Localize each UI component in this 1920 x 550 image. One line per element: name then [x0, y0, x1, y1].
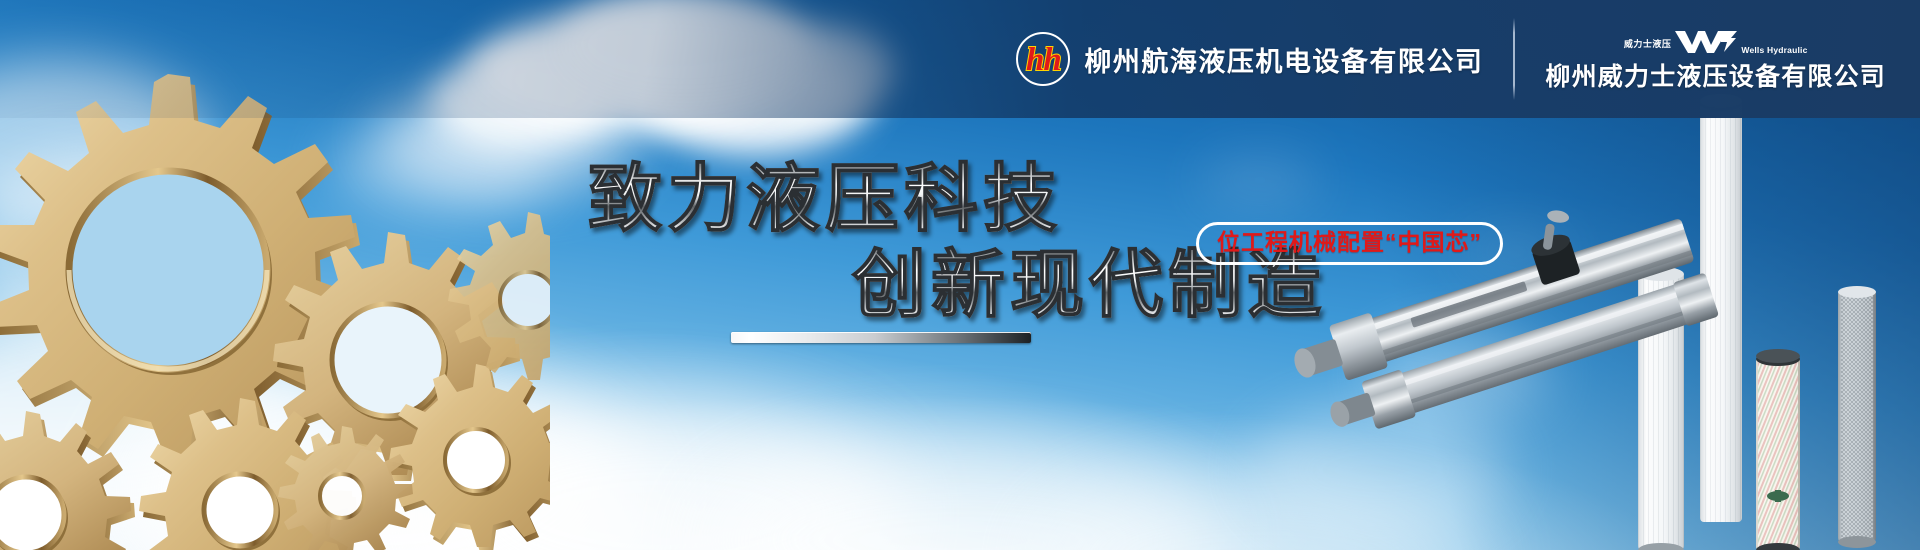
product-photos-group [1240, 80, 1920, 550]
logo-wells[interactable]: 威力士液压 Wells Hydraulic 柳州威力士液压设备有限公司 [1515, 26, 1920, 93]
company-name-wells: 柳州威力士液压设备有限公司 [1545, 57, 1886, 93]
hh-monogram: hh [1026, 44, 1061, 77]
logo-hanghai[interactable]: hh 柳州航海液压机电设备有限公司 [1016, 32, 1513, 86]
hydraulic-filter-element-pleated [1756, 349, 1800, 550]
wells-mark-en: Wells Hydraulic [1741, 46, 1807, 55]
ws-chevron-emblem: 威力士液压 Wells Hydraulic [1624, 26, 1808, 54]
wells-mark-cn: 威力士液压 [1624, 40, 1672, 49]
products-svg [1240, 80, 1920, 550]
gears-svg [0, 60, 550, 550]
header-logo-row: hh 柳州航海液压机电设备有限公司 威力士液压 Wells Hydraulic … [920, 0, 1920, 118]
company-name-hanghai: 柳州航海液压机电设备有限公司 [1084, 40, 1483, 79]
hh-circle-emblem: hh [1016, 32, 1070, 86]
ws-glyph-icon [1674, 28, 1738, 54]
golden-gears-cluster [0, 60, 550, 550]
hero-banner: 致力液压科技 创新现代制造 位工程机械配置“中国芯” hh 柳州航海液压机电设备… [0, 0, 1920, 550]
hydraulic-filter-element-mesh [1838, 286, 1876, 548]
